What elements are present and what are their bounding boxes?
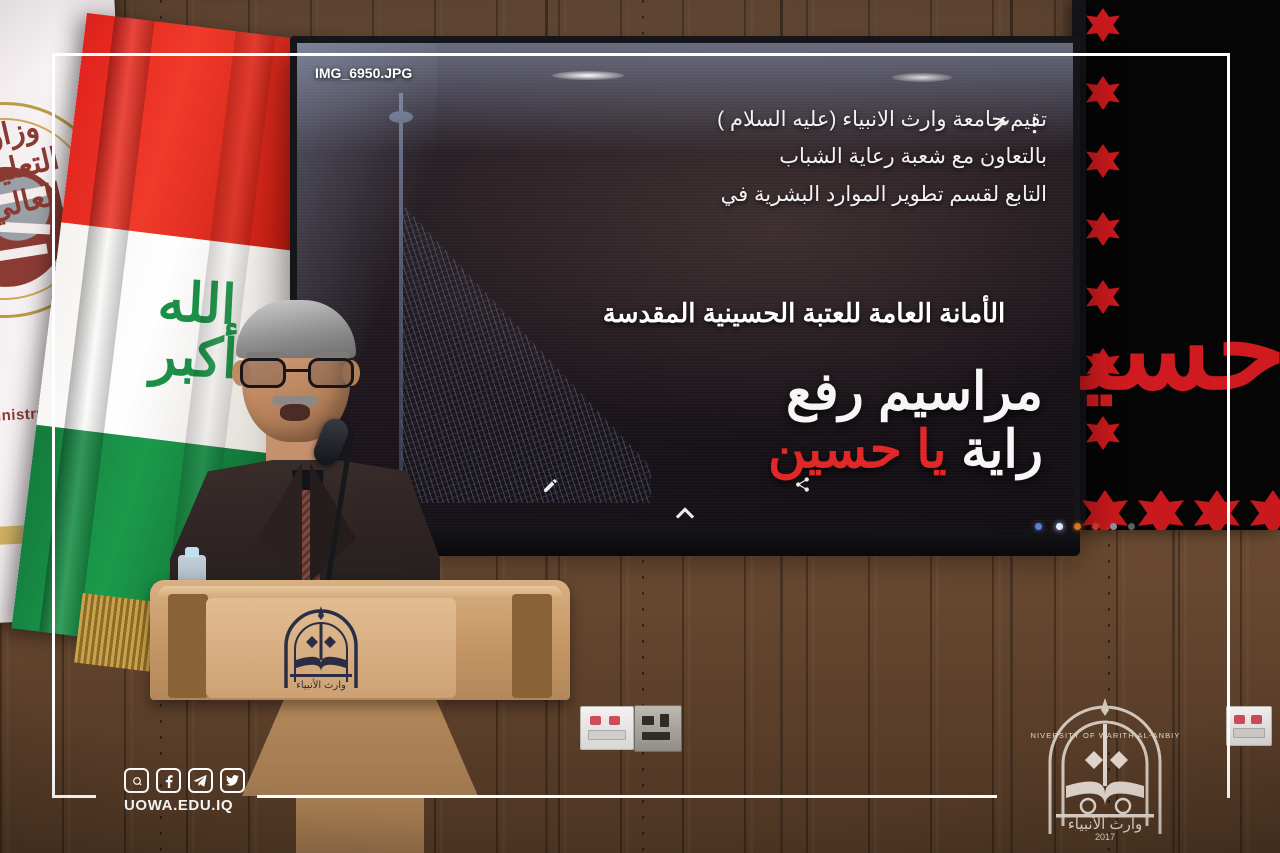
telegram-icon[interactable] bbox=[188, 768, 213, 793]
slide-title-line-2: راية يا حسين bbox=[523, 421, 1043, 479]
hair bbox=[236, 300, 356, 358]
screen-glare-top bbox=[297, 43, 1073, 153]
podium-university-emblem: وارث الأنبياء bbox=[266, 602, 376, 694]
file-name-label: IMG_6950.JPG bbox=[315, 65, 412, 81]
ceiling-light-reflection bbox=[552, 71, 624, 80]
water-bottle-cap bbox=[185, 547, 199, 557]
ceiling-light-reflection bbox=[892, 73, 952, 82]
wall-socket-left bbox=[580, 706, 680, 750]
slide-title-white: راية bbox=[961, 421, 1043, 479]
photo-canvas: وزارة التعليم العالي Ministry الله أكبر … bbox=[0, 0, 1280, 853]
university-logo-watermark: UNIVERSITY OF WARITH AL-ANBIYA وارث الأن… bbox=[1030, 694, 1180, 842]
muharram-banner: حسين bbox=[1072, 0, 1280, 530]
chevron-up-icon[interactable] bbox=[675, 506, 696, 519]
podium-front-panel: وارث الأنبياء bbox=[150, 580, 570, 700]
university-logo-year: 2017 bbox=[1095, 832, 1115, 842]
twitter-icon[interactable] bbox=[220, 768, 245, 793]
banner-scallop-column bbox=[1086, 0, 1122, 530]
slide-title-line-1: مراسيم رفع bbox=[523, 363, 1043, 421]
university-logo-name-ar: وارث الأنبياء bbox=[1068, 815, 1143, 833]
facebook-icon[interactable] bbox=[156, 768, 181, 793]
wall-socket-right bbox=[1226, 706, 1270, 746]
podium-accent-right bbox=[512, 594, 552, 698]
mouth bbox=[280, 404, 310, 421]
slide-main-title: مراسيم رفع راية يا حسين bbox=[523, 363, 1043, 479]
board-led-row bbox=[1056, 523, 1135, 530]
podium-accent-left bbox=[168, 594, 208, 698]
slide-line-2: بالتعاون مع شعبة رعاية الشباب bbox=[527, 138, 1047, 175]
muharram-calligraphy: حسين bbox=[1072, 300, 1280, 401]
svg-text:وارث الأنبياء: وارث الأنبياء bbox=[296, 679, 346, 691]
board-power-led bbox=[1035, 523, 1042, 530]
slide-line-3: التابع لقسم تطوير الموارد البشرية في bbox=[527, 176, 1047, 213]
website-url: UOWA.EDU.IQ bbox=[124, 797, 233, 814]
slide-line-1: تقيم جامعة وارث الانبياء (عليه السلام ) bbox=[527, 101, 1047, 138]
instagram-icon[interactable] bbox=[124, 768, 149, 793]
slide-body-text: تقيم جامعة وارث الانبياء (عليه السلام ) … bbox=[527, 101, 1047, 213]
slide-calligraphy-line: الأمانة العامة للعتبة الحسينية المقدسة bbox=[569, 298, 1039, 329]
slide-title-red: يا حسين bbox=[768, 421, 947, 479]
eyeglasses bbox=[240, 358, 354, 388]
podium-base bbox=[296, 794, 424, 853]
more-vertical-icon[interactable] bbox=[1032, 115, 1037, 135]
social-icon-row bbox=[124, 768, 245, 793]
podium-body bbox=[242, 698, 478, 796]
share-icon[interactable] bbox=[794, 476, 811, 493]
pencil-icon[interactable] bbox=[542, 477, 559, 494]
wrench-icon[interactable] bbox=[992, 115, 1011, 134]
